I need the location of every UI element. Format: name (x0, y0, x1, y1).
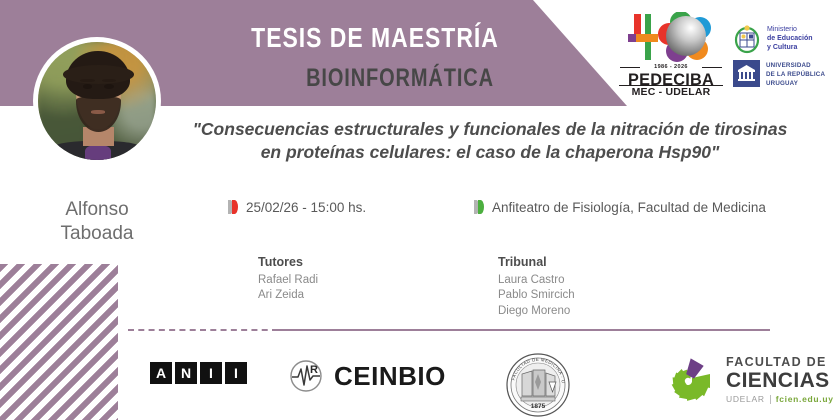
portrait-mouth (91, 110, 105, 114)
uruguay-coat-of-arms-icon (733, 24, 761, 54)
speaker-name-line1: Alfonso (17, 198, 177, 222)
anii-letter: I (225, 362, 247, 384)
pedeciba-anniversary-graphic (617, 12, 725, 64)
anii-letter: A (150, 362, 172, 384)
speaker-name: Alfonso Taboada (17, 198, 177, 246)
fciencias-line2: CIENCIAS (726, 370, 834, 391)
portrait-eyebrow-right (102, 79, 116, 83)
ceinbio-logo: R CEINBIO (288, 358, 446, 394)
fciencias-spiral-icon (659, 352, 717, 408)
divider-dashed (128, 329, 278, 331)
anii-logo: A N I I (150, 362, 247, 384)
fciencias-website[interactable]: fcien.edu.uy (776, 395, 834, 404)
udelar-text: UNIVERSIDAD DE LA REPÚBLICA URUGUAY (766, 62, 825, 89)
tribunal-panel: Tribunal Laura Castro Pablo Smircich Die… (498, 254, 575, 319)
pedeciba-subtitle: MEC - UDELAR (617, 86, 725, 98)
anii-letter: N (175, 362, 197, 384)
fciencias-separator (770, 395, 771, 404)
tribunal-name: Laura Castro (498, 273, 575, 289)
ceinbio-mark-letter: R (310, 364, 318, 376)
speaker-name-line2: Taboada (17, 222, 177, 246)
portrait-hair (66, 51, 130, 98)
ministerio-line1: Ministerio (767, 25, 813, 34)
medicina-seal-year: 1875 (531, 403, 546, 410)
portrait-eyebrow-left (80, 79, 94, 83)
fciencias-udelar: UDELAR (726, 395, 765, 404)
chevron-right-icon (474, 199, 486, 215)
tutores-name: Ari Zeida (258, 288, 318, 304)
event-date-text: 25/02/26 - 15:00 hs. (246, 200, 366, 215)
event-meta: 25/02/26 - 15:00 hs. Anfiteatro de Fisio… (228, 199, 798, 221)
ministerio-line2: de Educación (767, 34, 813, 43)
medicina-seal: 1875 FACULTAD DE MEDICINA · UDELAR (505, 352, 571, 418)
poster-canvas: TESIS DE MAESTRÍA BIOINFORMÁTICA (0, 0, 840, 420)
tribunal-name: Diego Moreno (498, 304, 575, 320)
ministerio-logo: Ministerio de Educación y Cultura (733, 24, 833, 56)
ministerio-line3: y Cultura (767, 43, 813, 52)
fciencias-logo: FACULTAD DE CIENCIAS UDELAR fcien.edu.uy (659, 352, 834, 408)
fciencias-line1: FACULTAD DE (726, 356, 834, 369)
tutores-heading: Tutores (258, 254, 318, 271)
portrait-eye-right (104, 84, 113, 89)
event-venue: Anfiteatro de Fisiología, Facultad de Me… (474, 199, 766, 215)
ceinbio-waveform-icon: R (288, 358, 324, 394)
tutores-name: Rafael Radi (258, 273, 318, 289)
ministerio-text: Ministerio de Educación y Cultura (767, 25, 813, 53)
udelar-building-icon (733, 60, 760, 87)
pedeciba-40-icon (617, 12, 725, 64)
udelar-line3: URUGUAY (766, 80, 825, 89)
fciencias-footer: UDELAR fcien.edu.uy (726, 395, 834, 404)
tribunal-heading: Tribunal (498, 254, 575, 271)
tutores-panel: Tutores Rafael Radi Ari Zeida (258, 254, 318, 304)
portrait-lanyard (85, 145, 111, 160)
udelar-line2: DE LA REPÚBLICA (766, 71, 825, 80)
thesis-title: "Consecuencias estructurales y funcional… (190, 118, 790, 165)
event-date: 25/02/26 - 15:00 hs. (228, 199, 366, 215)
divider-solid (278, 329, 770, 331)
ceinbio-label: CEINBIO (334, 361, 446, 392)
fciencias-text: FACULTAD DE CIENCIAS UDELAR fcien.edu.uy (726, 356, 834, 404)
decorative-stripes (0, 264, 118, 420)
portrait-photo (38, 42, 156, 160)
udelar-logo: UNIVERSIDAD DE LA REPÚBLICA URUGUAY (733, 60, 833, 90)
medicina-seal-icon: 1875 FACULTAD DE MEDICINA · UDELAR (505, 352, 571, 418)
udelar-line1: UNIVERSIDAD (766, 62, 825, 71)
anii-letter: I (200, 362, 222, 384)
avatar (33, 37, 161, 165)
page-title: TESIS DE MAESTRÍA (232, 22, 519, 54)
tribunal-name: Pablo Smircich (498, 288, 575, 304)
pedeciba-logo: 1986 - 2026 PEDECIBA MEC - UDELAR (617, 12, 725, 94)
page-subtitle: BIOINFORMÁTICA (260, 64, 540, 93)
chevron-right-icon (228, 199, 240, 215)
event-venue-text: Anfiteatro de Fisiología, Facultad de Me… (492, 200, 766, 215)
